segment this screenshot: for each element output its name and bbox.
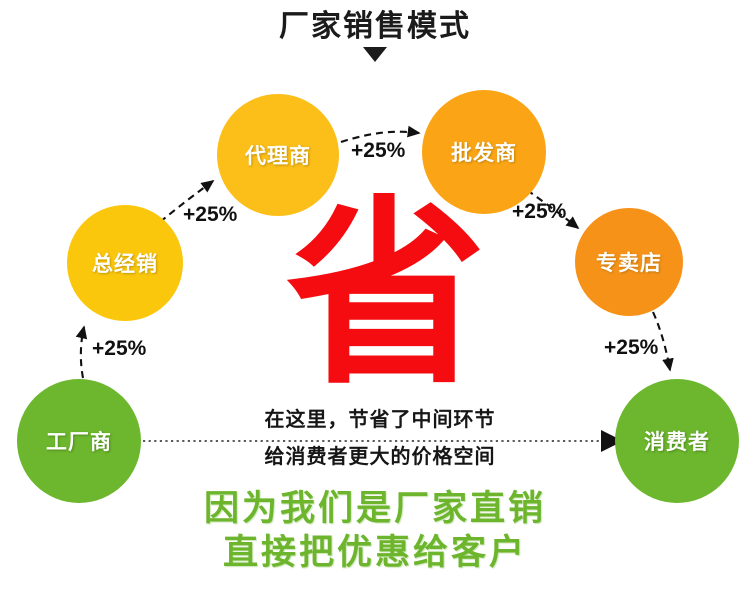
markup-factory-to-general: +25%	[92, 337, 146, 361]
middle-description-line-2: 给消费者更大的价格空间	[215, 441, 545, 474]
node-factory[interactable]: 工厂商	[17, 379, 141, 503]
node-label-agent: 代理商	[245, 140, 311, 170]
page-title: 厂家销售模式	[0, 10, 750, 62]
markup-shop-to-consumer: +25%	[604, 336, 658, 360]
middle-description-line-1: 在这里，节省了中间环节	[215, 404, 545, 437]
slogan-line-2: 直接把优惠给客户	[0, 531, 750, 575]
triangle-down-icon	[363, 47, 387, 62]
center-highlight-character: 省	[286, 196, 476, 396]
markup-wholesaler-to-shop: +25%	[512, 200, 566, 224]
markup-general-to-agent: +25%	[183, 203, 237, 227]
infographic-canvas: 厂家销售模式 省 总经销代理商批发商专卖店工厂商消费者 +25%+25%+25%…	[0, 0, 750, 604]
node-label-exclusive-shop: 专卖店	[596, 247, 662, 277]
node-agent[interactable]: 代理商	[217, 94, 339, 216]
node-label-consumer: 消费者	[644, 426, 710, 456]
arrow-factory-to-general	[81, 327, 84, 378]
node-label-factory: 工厂商	[46, 426, 112, 456]
node-agent-general[interactable]: 总经销	[67, 205, 183, 321]
node-consumer[interactable]: 消费者	[615, 379, 739, 503]
slogan-line-1: 因为我们是厂家直销	[0, 487, 750, 531]
node-label-agent-general: 总经销	[92, 248, 158, 278]
bottom-slogan: 因为我们是厂家直销 直接把优惠给客户	[0, 487, 750, 575]
node-label-wholesaler: 批发商	[451, 137, 517, 167]
node-exclusive-shop[interactable]: 专卖店	[575, 208, 683, 316]
page-title-text: 厂家销售模式	[0, 10, 750, 43]
node-wholesaler[interactable]: 批发商	[422, 90, 546, 214]
middle-description: 在这里，节省了中间环节 给消费者更大的价格空间	[215, 404, 545, 474]
markup-agent-to-wholesaler: +25%	[351, 139, 405, 163]
